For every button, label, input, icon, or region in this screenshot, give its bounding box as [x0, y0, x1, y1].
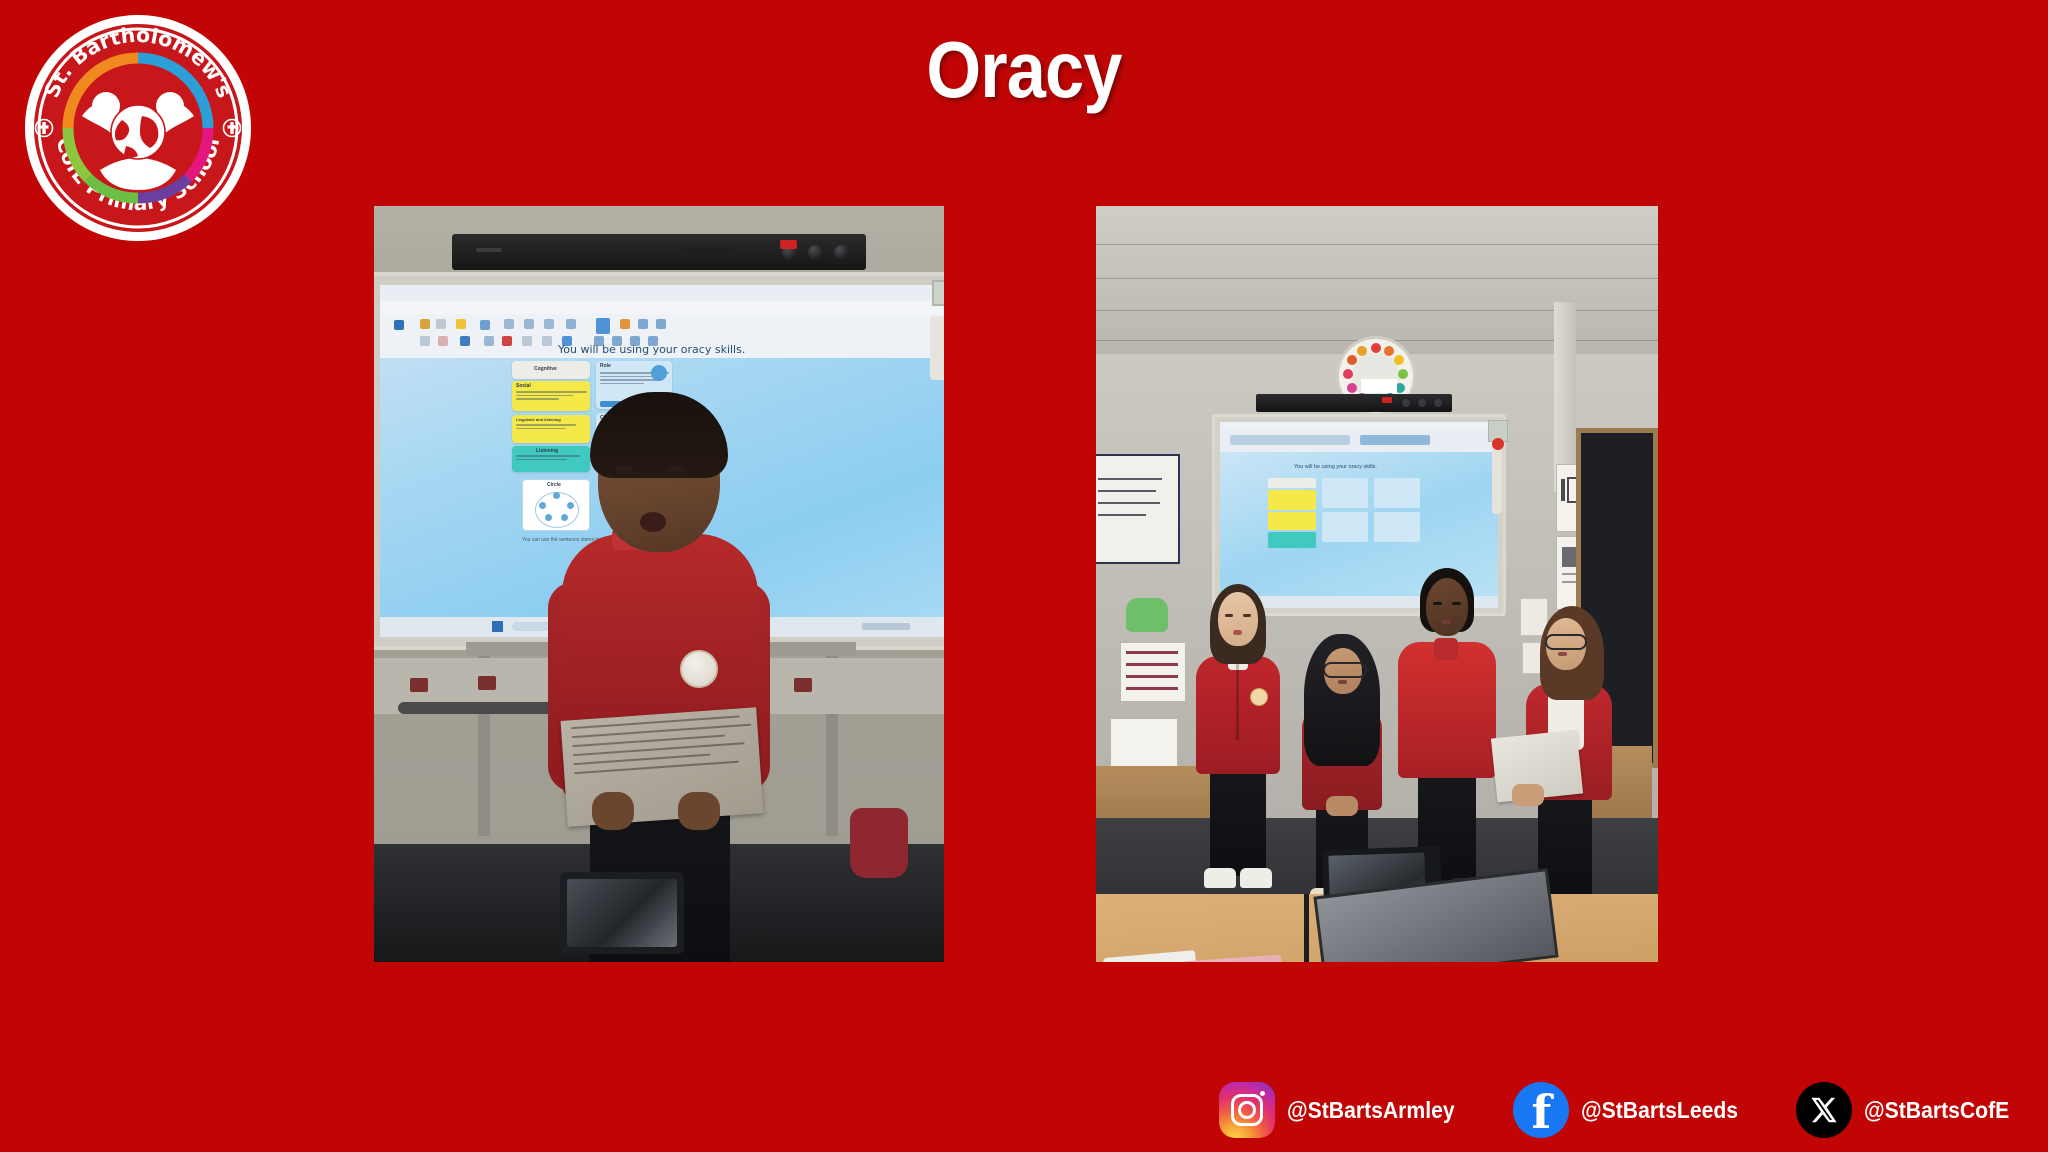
pupil-3 [1392, 560, 1502, 896]
glasses [1545, 634, 1587, 650]
x-handle: @StBartsCofE [1864, 1097, 2009, 1124]
soundbar [452, 234, 866, 270]
pupil-4 [1518, 584, 1628, 904]
facebook-handle: @StBartsLeeds [1581, 1097, 1738, 1124]
tablet-device [560, 872, 684, 954]
social-footer: @StBartsArmley f @StBartsLeeds @StBartsC… [1219, 1082, 2022, 1138]
whiteboard-heading: You will be using your oracy skills. [558, 343, 745, 356]
soundbar [1256, 394, 1452, 412]
instagram-handle: @StBartsArmley [1287, 1097, 1455, 1124]
glasses [1323, 662, 1367, 678]
whiteboard-heading: You will be using your oracy skills. [1294, 464, 1377, 470]
x-twitter-icon[interactable] [1796, 1082, 1852, 1138]
slide-root: St. Bartholomew's CofE Primary School [0, 0, 2048, 1152]
card-label-social: Social [516, 383, 531, 389]
wall-poster [1096, 454, 1180, 564]
uniform-crest [1250, 688, 1268, 706]
photo-four-pupils-presenting: You will be using your oracy skills. [1096, 206, 1658, 962]
photo-boy-reading-at-whiteboard: You will be using your oracy skills. Cog… [374, 206, 944, 962]
reading-sheet [561, 707, 764, 826]
dinosaur-display [1126, 598, 1168, 632]
social-item-x[interactable]: @StBartsCofE [1796, 1082, 2022, 1138]
social-item-instagram[interactable]: @StBartsArmley [1219, 1082, 1469, 1138]
social-item-facebook[interactable]: f @StBartsLeeds [1513, 1082, 1752, 1138]
uniform-crest [680, 650, 718, 688]
page-title: Oracy [123, 30, 1925, 110]
pupil-1 [1188, 568, 1288, 890]
facebook-icon[interactable]: f [1513, 1082, 1569, 1138]
school-bag [850, 808, 908, 878]
instagram-icon[interactable] [1219, 1082, 1275, 1138]
